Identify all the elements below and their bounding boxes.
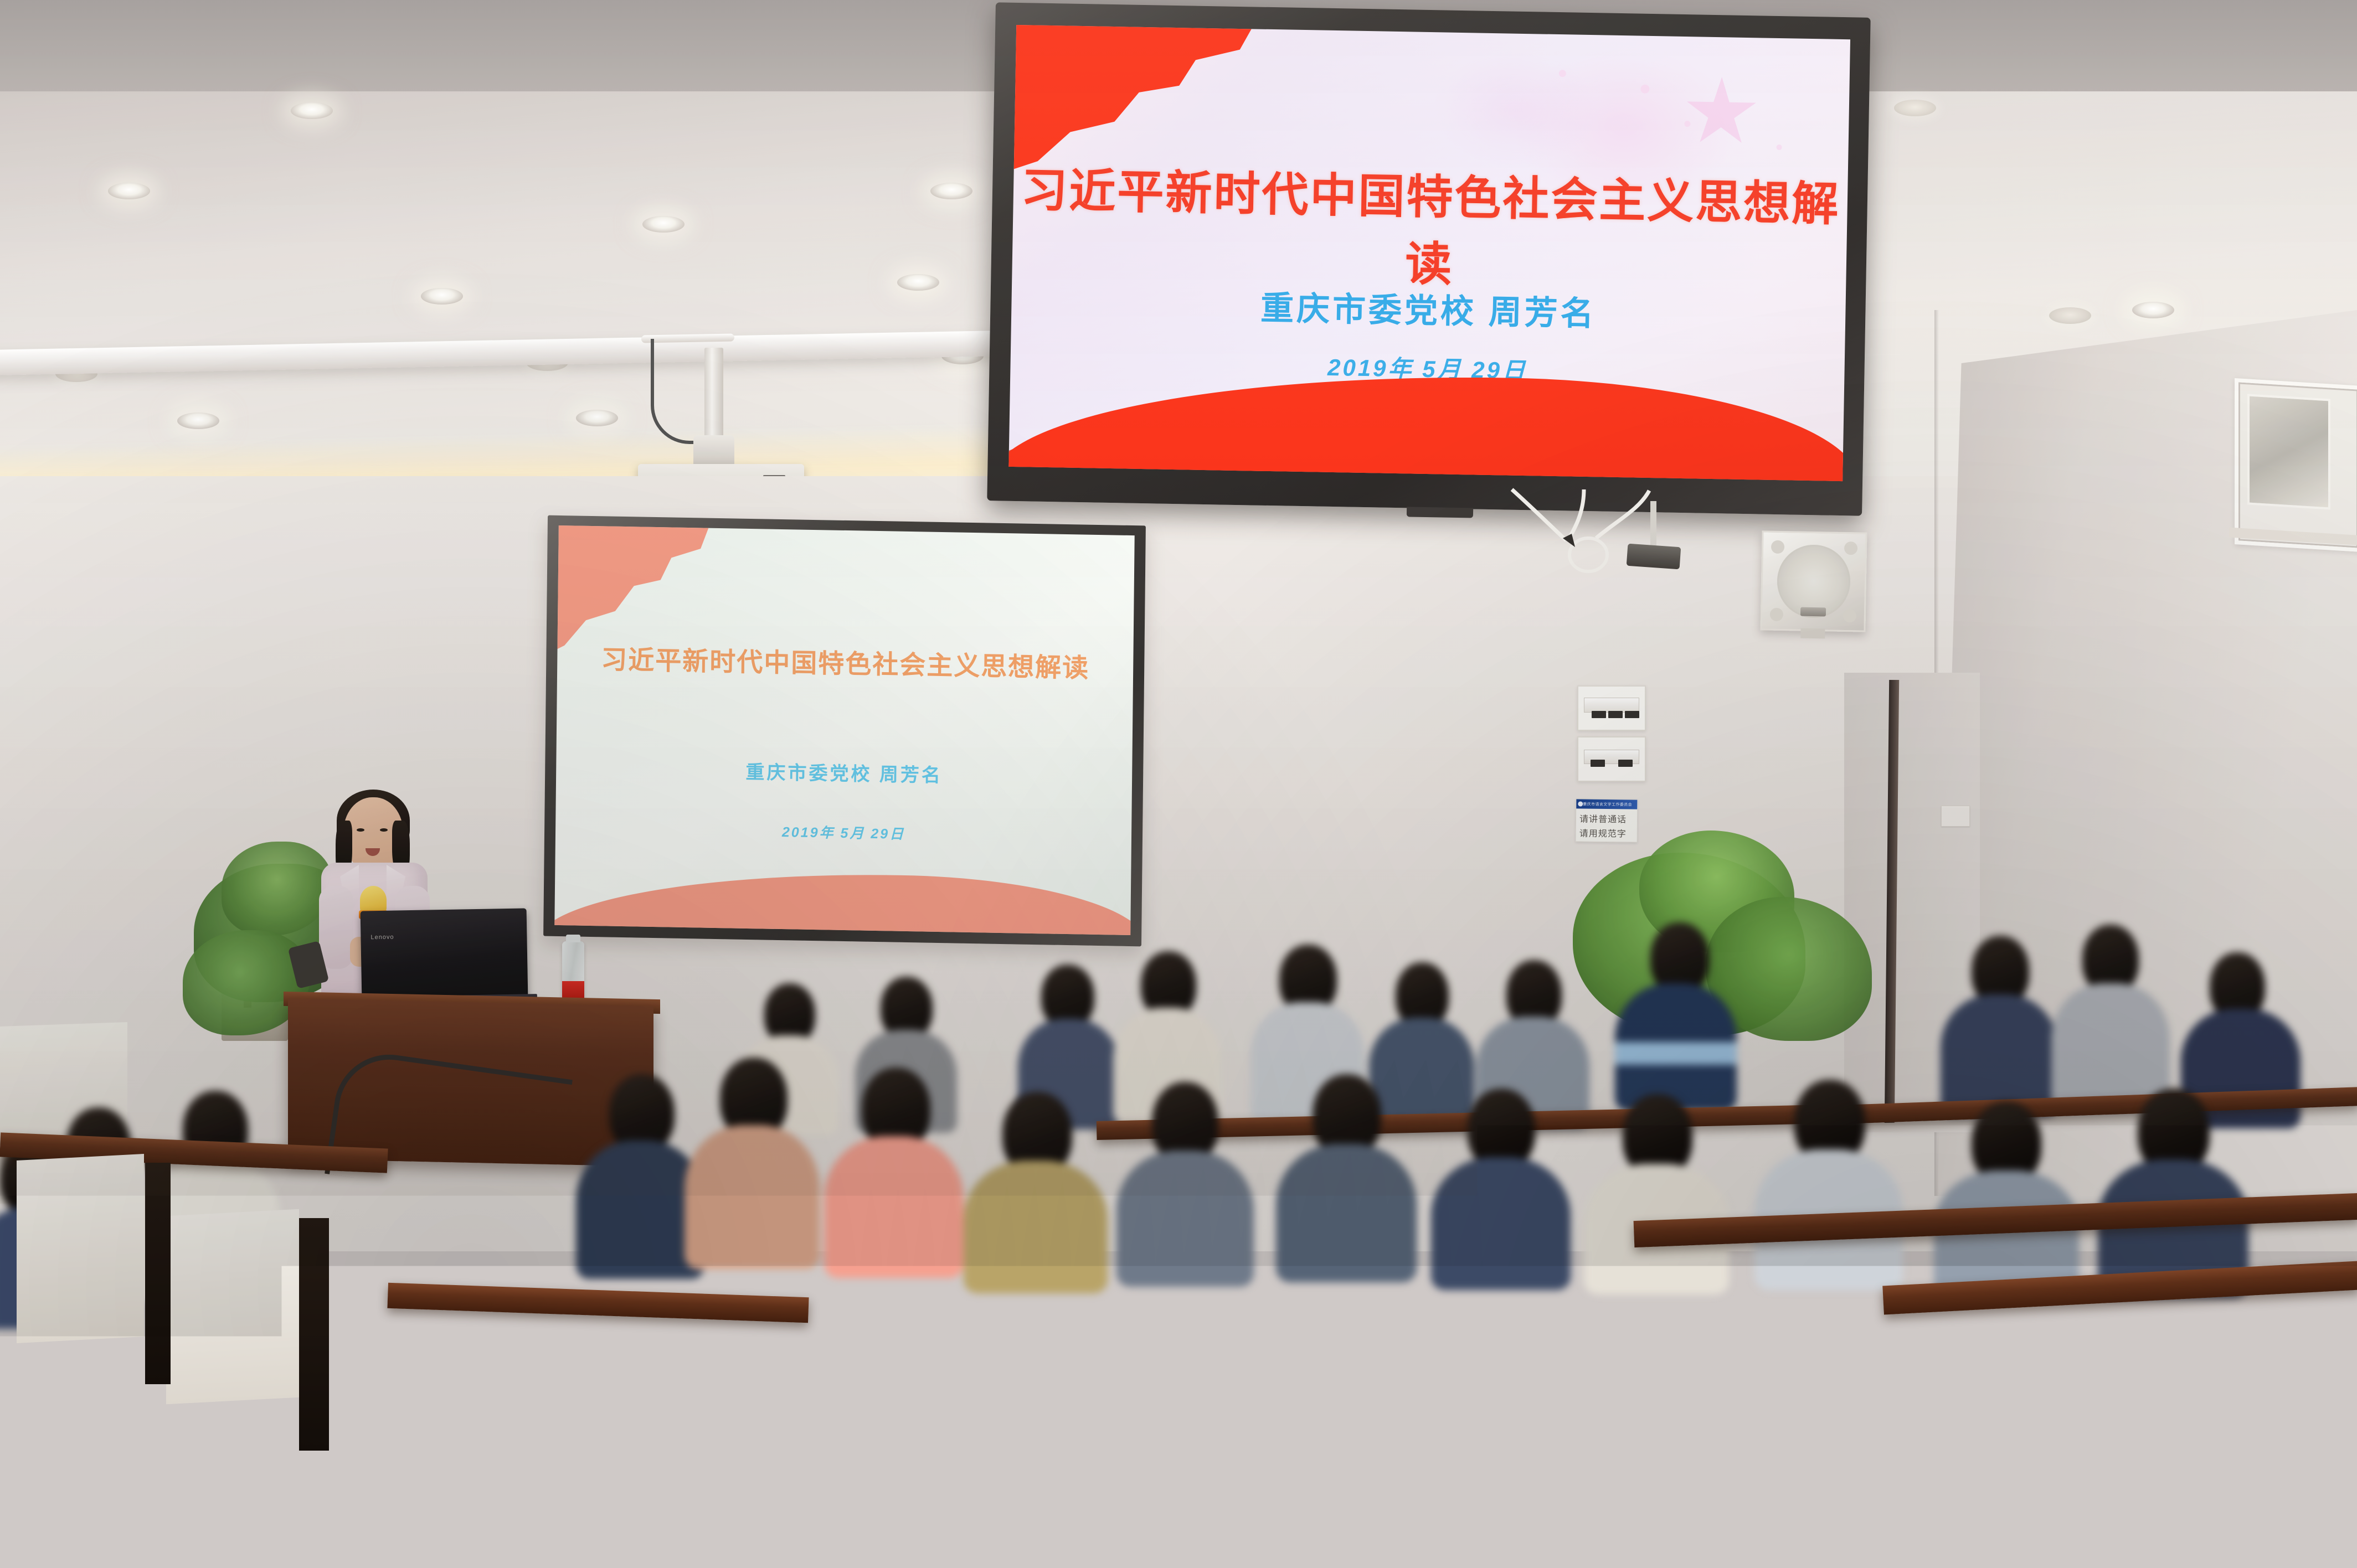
projector-cable: [651, 339, 706, 444]
tv-bottom-nub: [1407, 507, 1473, 518]
audience-body: [576, 1440, 803, 1568]
projected-slide-subtitle: 重庆市委党校 周芳名: [556, 753, 1132, 790]
electrical-panel-upper: [1577, 685, 1646, 731]
audience-body: [377, 1451, 596, 1568]
breaker-switch: [1608, 711, 1623, 718]
speaker-bracket: [1800, 628, 1825, 639]
electrical-panel-lower: [1577, 736, 1646, 782]
downlight: [291, 102, 333, 119]
breaker-switch: [1618, 760, 1633, 767]
notice-line-1: 请讲普通话: [1579, 811, 1635, 825]
breaker-strip: [1584, 698, 1640, 713]
presenter-mouth: [366, 848, 380, 856]
presenter-eye: [380, 828, 388, 832]
breaker-switch: [1592, 711, 1606, 718]
projected-slide-date: 2019年 5月 29日: [555, 817, 1131, 847]
notice-line-2: 请用规范字: [1579, 826, 1635, 839]
window: [2235, 378, 2357, 552]
tv-brand-label: [1341, 482, 1508, 504]
speaker-screw: [1843, 609, 1856, 622]
audience-body: [780, 1473, 1011, 1568]
audience-body: [1390, 1451, 1630, 1568]
speaker-screw: [1844, 541, 1857, 555]
projector-pole-mount: [704, 348, 723, 442]
downlight: [2132, 302, 2174, 318]
slide-decor-dot: [1640, 84, 1649, 93]
speaker-screw: [1770, 608, 1783, 621]
downlight: [576, 410, 618, 426]
presenter-eye: [357, 828, 364, 832]
lecture-hall-scene: 习近平新时代中国特色社会主义思想解读 重庆市委党校 周芳名 2019年 5月 2…: [0, 0, 2357, 1568]
audience-body: [1794, 1440, 2040, 1568]
projection-screen-surface: 习近平新时代中国特色社会主义思想解读 重庆市委党校 周芳名 2019年 5月 2…: [554, 525, 1134, 935]
downlight: [421, 288, 463, 305]
slide-decor-dot: [1684, 121, 1690, 127]
pink-object: [260, 1345, 343, 1412]
slide-decor-wave: [554, 869, 1134, 935]
paper-document: [1726, 1201, 1907, 1285]
speaker-screw: [1771, 540, 1784, 554]
downlight: [642, 216, 685, 233]
slide-decor-dot: [1776, 144, 1782, 149]
wall-mounted-tv[interactable]: 习近平新时代中国特色社会主义思想解读 重庆市委党校 周芳名 2019年 5月 2…: [987, 2, 1870, 515]
speaker-badge: [1800, 607, 1826, 617]
notice-sign: 重庆市语言文字工作委员会 请讲普通话 请用规范字: [1576, 798, 1638, 842]
downlight: [1894, 100, 1936, 116]
slide-decor-dot: [1559, 70, 1566, 77]
projection-screen: 习近平新时代中国特色社会主义思想解读 重庆市委党校 周芳名 2019年 5月 2…: [543, 515, 1146, 947]
window-pane: [2247, 394, 2330, 509]
downlight: [108, 183, 150, 199]
security-camera-icon: [1627, 544, 1681, 570]
downlight: [930, 183, 972, 199]
camera-mount: [1650, 501, 1656, 548]
wall-speaker: [1760, 530, 1867, 632]
projected-slide-title: 习近平新时代中国特色社会主义思想解读: [557, 637, 1134, 685]
downlight: [177, 412, 219, 429]
tv-screen: 习近平新时代中国特色社会主义思想解读 重庆市委党校 周芳名 2019年 5月 2…: [1008, 25, 1850, 481]
audience-body: [1190, 1478, 1424, 1568]
light-switch-plate[interactable]: [1941, 806, 1970, 827]
downlight: [897, 274, 939, 291]
breaker-switch: [1625, 711, 1639, 718]
downlight: [2049, 307, 2091, 324]
notice-sign-header: 重庆市语言文字工作委员会: [1576, 799, 1637, 809]
breaker-switch: [1591, 760, 1605, 767]
notice-emblem-icon: [1578, 801, 1583, 806]
